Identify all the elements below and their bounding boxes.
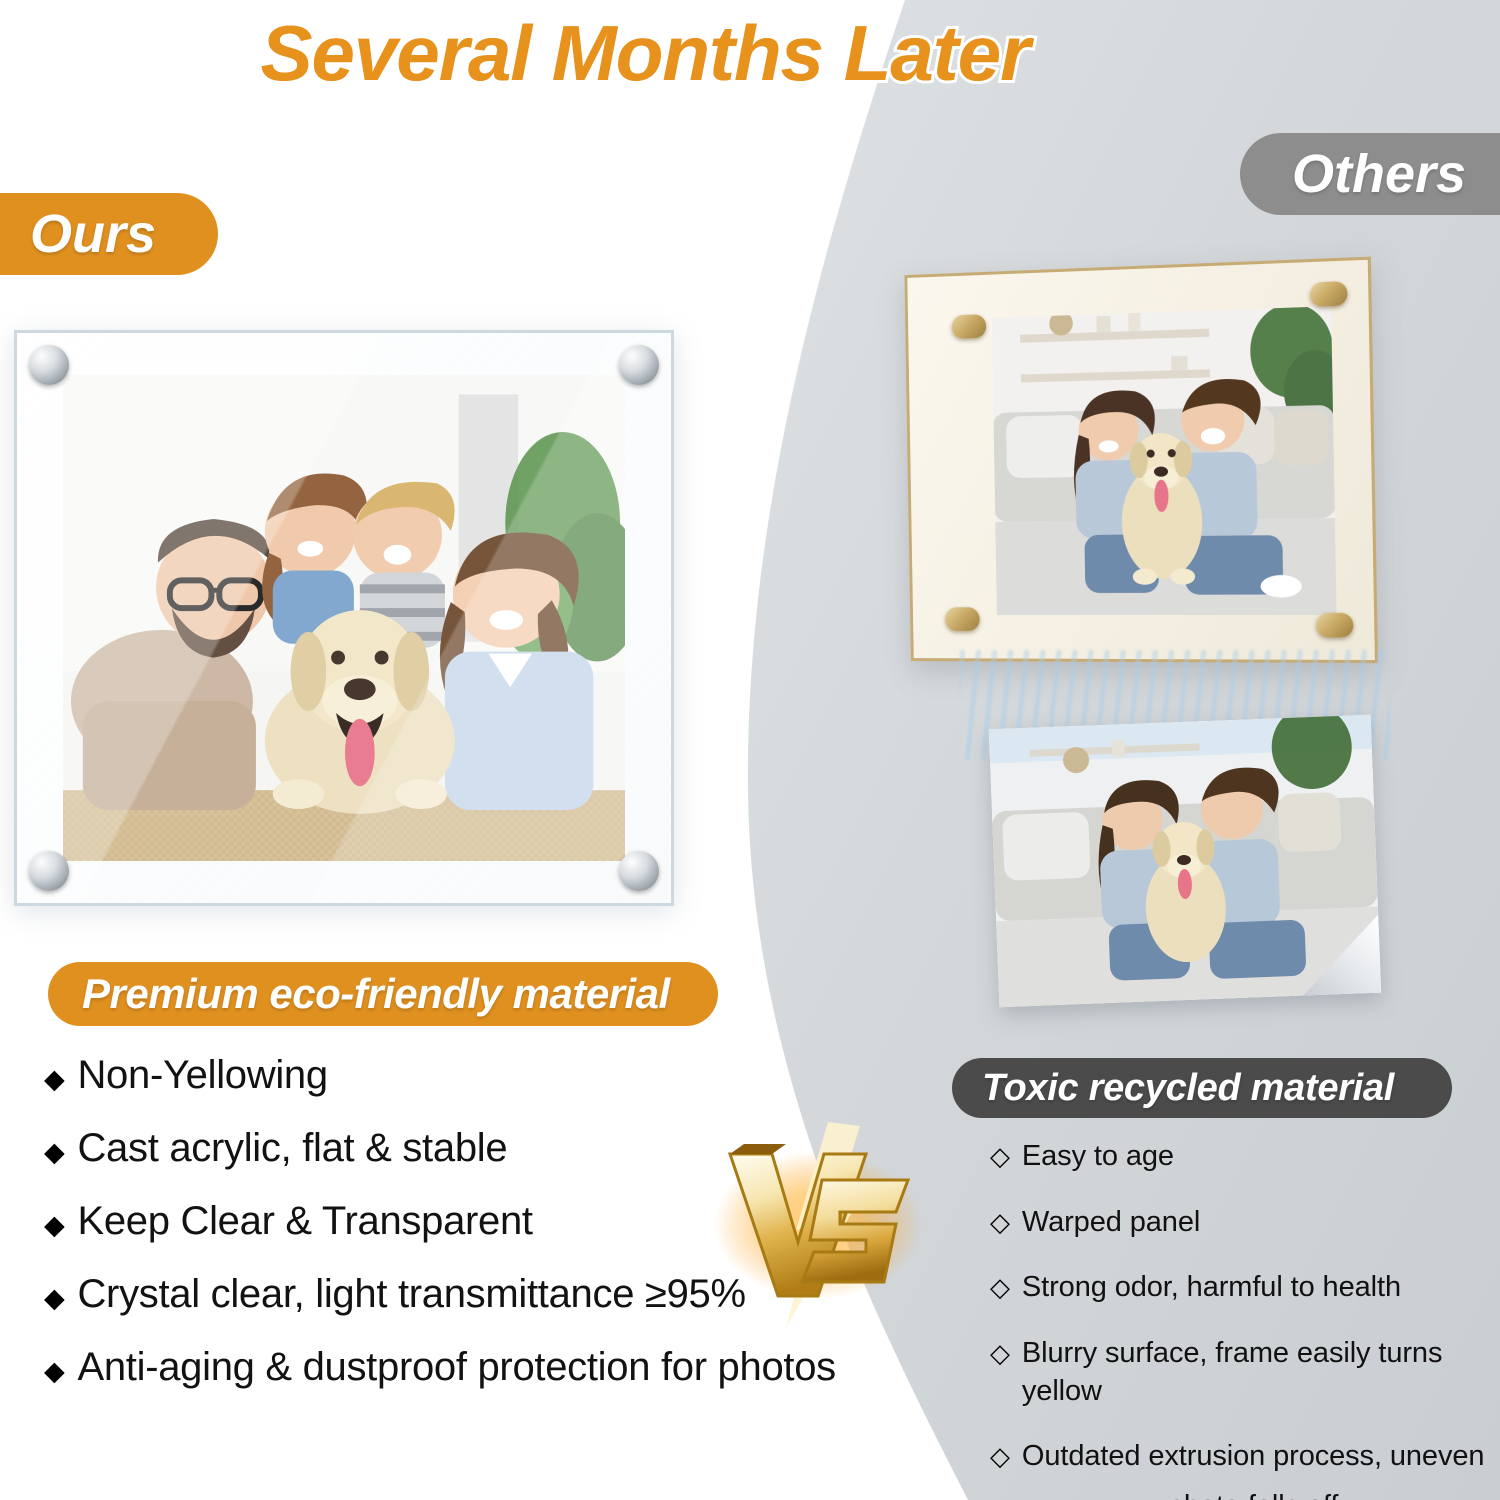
list-item: ◆ Crystal clear, light transmittance ≥95… [44, 1271, 884, 1317]
list-item-label: Cast acrylic, flat & stable [77, 1125, 507, 1171]
infographic-canvas: Several Months Later Several Months Late… [0, 0, 1500, 1500]
toxic-material-label: Toxic recycled material [982, 1067, 1394, 1110]
list-item-label: Warped panel [1022, 1204, 1200, 1242]
list-item: ◆ Non-Yellowing [44, 1052, 884, 1098]
list-item-label-line1: Outdated extrusion process, uneven [1022, 1440, 1485, 1472]
list-item-label: Crystal clear, light transmittance ≥95% [77, 1271, 745, 1317]
list-item: ◇ Outdated extrusion process, uneven pho… [990, 1438, 1500, 1500]
others-badge-label: Others [1292, 143, 1466, 205]
diamond-outline-icon: ◇ [990, 1443, 1010, 1469]
list-item: ◇ Warped panel [990, 1204, 1500, 1242]
gold-standoff-top-left [952, 314, 987, 339]
list-item: ◇ Easy to age [990, 1138, 1500, 1176]
gold-standoff-bottom-left [945, 607, 980, 631]
diamond-filled-icon: ◆ [44, 1285, 64, 1312]
list-item-label: Anti-aging & dustproof protection for ph… [77, 1344, 835, 1390]
others-drawback-list: ◇ Easy to age ◇ Warped panel ◇ Strong od… [990, 1138, 1500, 1500]
list-item-label: Easy to age [1022, 1138, 1174, 1176]
couple-photo-framed [992, 306, 1337, 615]
list-item-label: Keep Clear & Transparent [77, 1198, 532, 1244]
list-item-label: Strong odor, harmful to health [1022, 1269, 1401, 1307]
list-item-label: Non-Yellowing [77, 1052, 327, 1098]
yellowed-acrylic-frame [904, 257, 1378, 664]
premium-material-label: Premium eco-friendly material [82, 970, 670, 1018]
diamond-filled-icon: ◆ [44, 1212, 64, 1239]
standoff-top-left [29, 345, 69, 385]
premium-material-badge: Premium eco-friendly material [48, 962, 718, 1026]
family-photo-clear [63, 375, 625, 861]
diamond-outline-icon: ◇ [990, 1209, 1010, 1235]
diamond-filled-icon: ◆ [44, 1358, 64, 1385]
standoff-bottom-left [29, 851, 69, 891]
list-item-label-wrapped: Outdated extrusion process, uneven photo… [1022, 1438, 1485, 1500]
diamond-outline-icon: ◇ [990, 1143, 1010, 1169]
diamond-outline-icon: ◇ [990, 1340, 1010, 1366]
ours-badge-label: Ours [30, 203, 156, 265]
page-title: Several Months Later [0, 8, 1290, 99]
diamond-outline-icon: ◇ [990, 1274, 1010, 1300]
diamond-filled-icon: ◆ [44, 1066, 64, 1093]
list-item-label: Blurry surface, frame easily turns yello… [1022, 1335, 1500, 1410]
list-item: ◇ Strong odor, harmful to health [990, 1269, 1500, 1307]
list-item: ◆ Keep Clear & Transparent [44, 1198, 884, 1244]
clear-acrylic-frame [14, 330, 674, 906]
fallen-photo [989, 715, 1381, 1007]
toxic-material-badge: Toxic recycled material [952, 1058, 1452, 1118]
standoff-top-right [619, 345, 659, 385]
diamond-filled-icon: ◆ [44, 1139, 64, 1166]
list-item-label-line2: photo falls off [1022, 1488, 1485, 1500]
list-item: ◆ Cast acrylic, flat & stable [44, 1125, 884, 1171]
ours-badge: Ours [0, 193, 218, 275]
gold-standoff-top-right [1310, 281, 1348, 307]
standoff-bottom-right [619, 851, 659, 891]
list-item: ◆ Anti-aging & dustproof protection for … [44, 1344, 884, 1390]
others-badge: Others [1240, 133, 1500, 215]
gold-standoff-bottom-right [1316, 613, 1354, 638]
ours-feature-list: ◆ Non-Yellowing ◆ Cast acrylic, flat & s… [44, 1052, 884, 1417]
list-item: ◇ Blurry surface, frame easily turns yel… [990, 1335, 1500, 1410]
